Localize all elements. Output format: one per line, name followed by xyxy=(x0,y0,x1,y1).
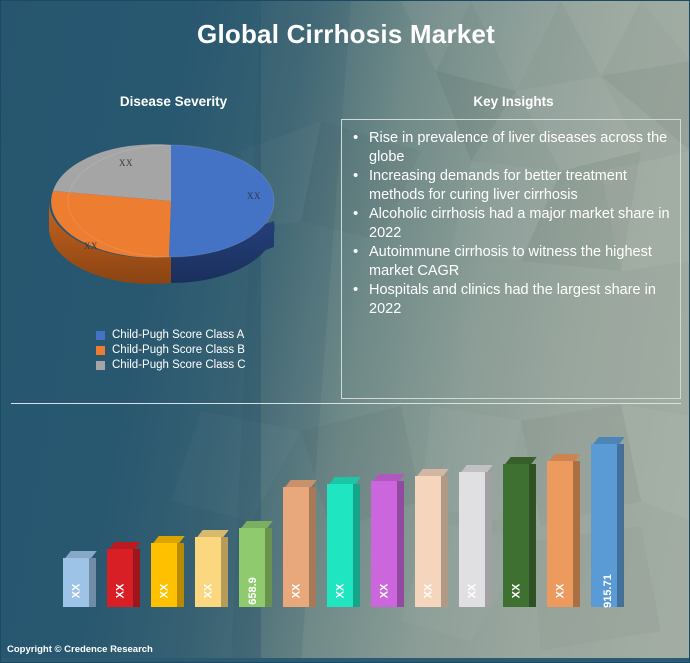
bar-side-face xyxy=(177,543,184,607)
page-title: Global Cirrhosis Market xyxy=(1,19,690,50)
bar-top-face xyxy=(593,437,624,444)
bar-value-label: XX xyxy=(415,585,441,597)
bar-top-face xyxy=(65,551,96,558)
disease-severity-pie-chart: XX XX XX xyxy=(29,129,319,309)
bar-2023: XX xyxy=(283,480,316,607)
bar-value-label: XX xyxy=(107,585,133,597)
insight-item: Rise in prevalence of liver diseases acr… xyxy=(350,129,670,166)
bar-2022: 658.9 xyxy=(239,521,272,607)
legend-item-class-b: Child-Pugh Score Class B xyxy=(96,344,311,356)
bar-value-label: XX xyxy=(283,585,309,597)
legend-label-class-c: Child-Pugh Score Class C xyxy=(112,359,246,371)
disease-severity-heading: Disease Severity xyxy=(61,94,286,109)
bar-value-label: XX xyxy=(371,585,397,597)
pie-svg xyxy=(29,129,319,309)
bar-2018: XX xyxy=(63,551,96,607)
bar-side-face xyxy=(617,444,624,607)
copyright-text: Copyright © Credence Research xyxy=(7,644,153,655)
insight-item: Hospitals and clinics had the largest sh… xyxy=(350,281,670,318)
bar-2019: XX xyxy=(107,542,140,607)
bar-top-face xyxy=(373,474,404,481)
bar-2025: XX xyxy=(371,474,404,607)
insight-item: Alcoholic cirrhosis had a major market s… xyxy=(350,205,670,242)
bar-2021: XX xyxy=(195,530,228,607)
key-insights-heading: Key Insights xyxy=(376,94,651,109)
bar-value-label: 915.71 xyxy=(591,585,617,597)
bar-2028: XX xyxy=(503,457,536,607)
bar-top-face xyxy=(197,530,228,537)
bar-value-label: XX xyxy=(63,585,89,597)
bar-2020: XX xyxy=(151,536,184,607)
legend-label-class-a: Child-Pugh Score Class A xyxy=(112,329,244,341)
bar-side-face xyxy=(133,549,140,607)
bar-top-face xyxy=(241,521,272,528)
bar-2029: XX xyxy=(547,454,580,607)
bar-value-label: XX xyxy=(547,585,573,597)
bar-2024: XX xyxy=(327,477,360,607)
bar-value-label: XX xyxy=(503,585,529,597)
bar-side-face xyxy=(89,558,96,607)
key-insights-panel: Rise in prevalence of liver diseases acr… xyxy=(341,119,681,399)
bar-top-face xyxy=(461,465,492,472)
bar-value-label: XX xyxy=(459,585,485,597)
bar-2030: 915.71 xyxy=(591,437,624,607)
bar-value-label: XX xyxy=(327,585,353,597)
legend-swatch-class-b xyxy=(96,346,105,355)
bar-value-label: XX xyxy=(195,585,221,597)
insight-item: Autoimmune cirrhosis to witness the high… xyxy=(350,243,670,280)
legend-label-class-b: Child-Pugh Score Class B xyxy=(112,344,245,356)
bar-top-face xyxy=(329,477,360,484)
legend-swatch-class-c xyxy=(96,361,105,370)
bar-side-face xyxy=(265,528,272,607)
pie-legend: Child-Pugh Score Class A Child-Pugh Scor… xyxy=(96,329,311,374)
insight-item: Increasing demands for better treatment … xyxy=(350,167,670,204)
bar-side-face xyxy=(441,476,448,607)
pie-label-class-a: XX xyxy=(247,191,261,201)
bar-top-face xyxy=(109,542,140,549)
bar-side-face xyxy=(485,472,492,607)
bar-top-face xyxy=(153,536,184,543)
pie-slice-class-c xyxy=(53,144,171,201)
bar-value-label: XX xyxy=(151,585,177,597)
bar-side-face xyxy=(353,484,360,607)
market-size-bar-chart: MARKET SIZE USD MN XXXXXXXX658.9XXXXXXXX… xyxy=(1,411,690,663)
pie-label-class-c: XX xyxy=(119,158,133,168)
bar-side-face xyxy=(221,537,228,607)
key-insights-list: Rise in prevalence of liver diseases acr… xyxy=(342,120,680,318)
bar-top-face xyxy=(549,454,580,461)
legend-item-class-c: Child-Pugh Score Class C xyxy=(96,359,311,371)
footer-bar xyxy=(1,658,690,663)
bar-side-face xyxy=(529,464,536,607)
section-divider xyxy=(11,403,681,404)
bar-value-label: 658.9 xyxy=(239,585,265,597)
legend-item-class-a: Child-Pugh Score Class A xyxy=(96,329,311,341)
bar-top-face xyxy=(417,469,448,476)
bar-side-face xyxy=(397,481,404,607)
bar-top-face xyxy=(505,457,536,464)
infographic-canvas: Global Cirrhosis Market Disease Severity… xyxy=(0,0,690,663)
bar-2027: XX xyxy=(459,465,492,607)
bar-side-face xyxy=(573,461,580,607)
legend-swatch-class-a xyxy=(96,331,105,340)
pie-label-class-b: XX xyxy=(84,241,98,251)
bar-top-face xyxy=(285,480,316,487)
bar-2026: XX xyxy=(415,469,448,607)
bar-side-face xyxy=(309,487,316,607)
